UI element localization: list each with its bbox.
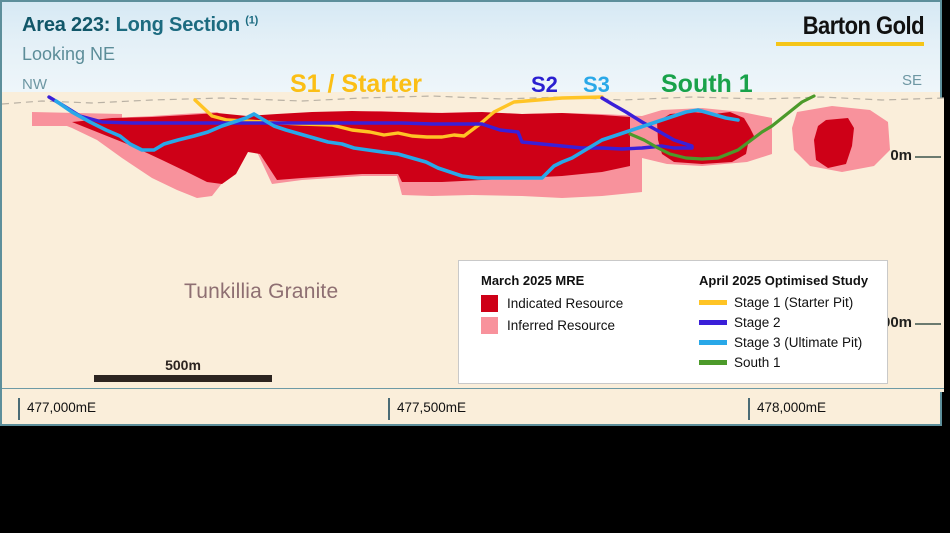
legend-label-stage2: Stage 2: [734, 315, 781, 330]
legend-title-study: April 2025 Optimised Study: [699, 273, 868, 288]
legend-item-indicated: Indicated Resource: [481, 295, 623, 312]
legend-item-south1: South 1: [699, 355, 868, 370]
legend-item-stage2: Stage 2: [699, 315, 868, 330]
long-section-slide: Area 223: Long Section (1) Looking NE Ba…: [0, 0, 942, 426]
legend-item-stage1: Stage 1 (Starter Pit): [699, 295, 868, 310]
legend-label-south1: South 1: [734, 355, 781, 370]
depth-tick-500m: [915, 323, 941, 325]
depth-label-0m: 0m: [890, 147, 912, 164]
scale-bar-rule: [94, 375, 272, 382]
easting-axis: 477,000mE 477,500mE 478,000mE: [2, 388, 944, 424]
depth-tick-0m: [915, 156, 941, 158]
easting-tick-477000: 477,000mE: [18, 398, 96, 420]
slide-header: Area 223: Long Section (1) Looking NE Ba…: [2, 2, 940, 92]
page-title-bold: Area 223:: [22, 14, 110, 36]
easting-tick-478000: 478,000mE: [748, 398, 826, 420]
brand-underline: [776, 42, 924, 46]
footnote-marker: (1): [245, 14, 258, 26]
compass-label-nw: NW: [22, 76, 47, 93]
page-title-normal: Long Section: [116, 14, 240, 36]
legend-label-stage1: Stage 1 (Starter Pit): [734, 295, 853, 310]
compass-label-se: SE: [902, 72, 922, 89]
easting-tick-477500: 477,500mE: [388, 398, 466, 420]
legend-line-stage1: [699, 300, 727, 305]
legend-line-stage3: [699, 340, 727, 345]
host-rock-label: Tunkillia Granite: [184, 280, 338, 304]
legend-column-mre: March 2025 MRE Indicated Resource Inferr…: [481, 273, 623, 339]
page-title: Area 223: Long Section (1): [22, 14, 258, 37]
legend-label-inferred: Inferred Resource: [507, 318, 615, 333]
legend-item-inferred: Inferred Resource: [481, 317, 623, 334]
legend-item-stage3: Stage 3 (Ultimate Pit): [699, 335, 868, 350]
legend-box: March 2025 MRE Indicated Resource Inferr…: [458, 260, 888, 384]
scale-bar-label: 500m: [94, 357, 272, 373]
legend-swatch-inferred: [481, 317, 498, 334]
legend-line-south1: [699, 360, 727, 365]
legend-title-mre: March 2025 MRE: [481, 273, 623, 288]
brand-name: Barton Gold: [794, 12, 924, 41]
brand-logo: Barton Gold: [776, 12, 924, 46]
legend-column-study: April 2025 Optimised Study Stage 1 (Star…: [699, 273, 868, 375]
legend-label-stage3: Stage 3 (Ultimate Pit): [734, 335, 862, 350]
legend-swatch-indicated: [481, 295, 498, 312]
legend-line-stage2: [699, 320, 727, 325]
scale-bar: 500m: [94, 357, 272, 382]
page-subtitle: Looking NE: [22, 44, 115, 65]
legend-label-indicated: Indicated Resource: [507, 296, 623, 311]
